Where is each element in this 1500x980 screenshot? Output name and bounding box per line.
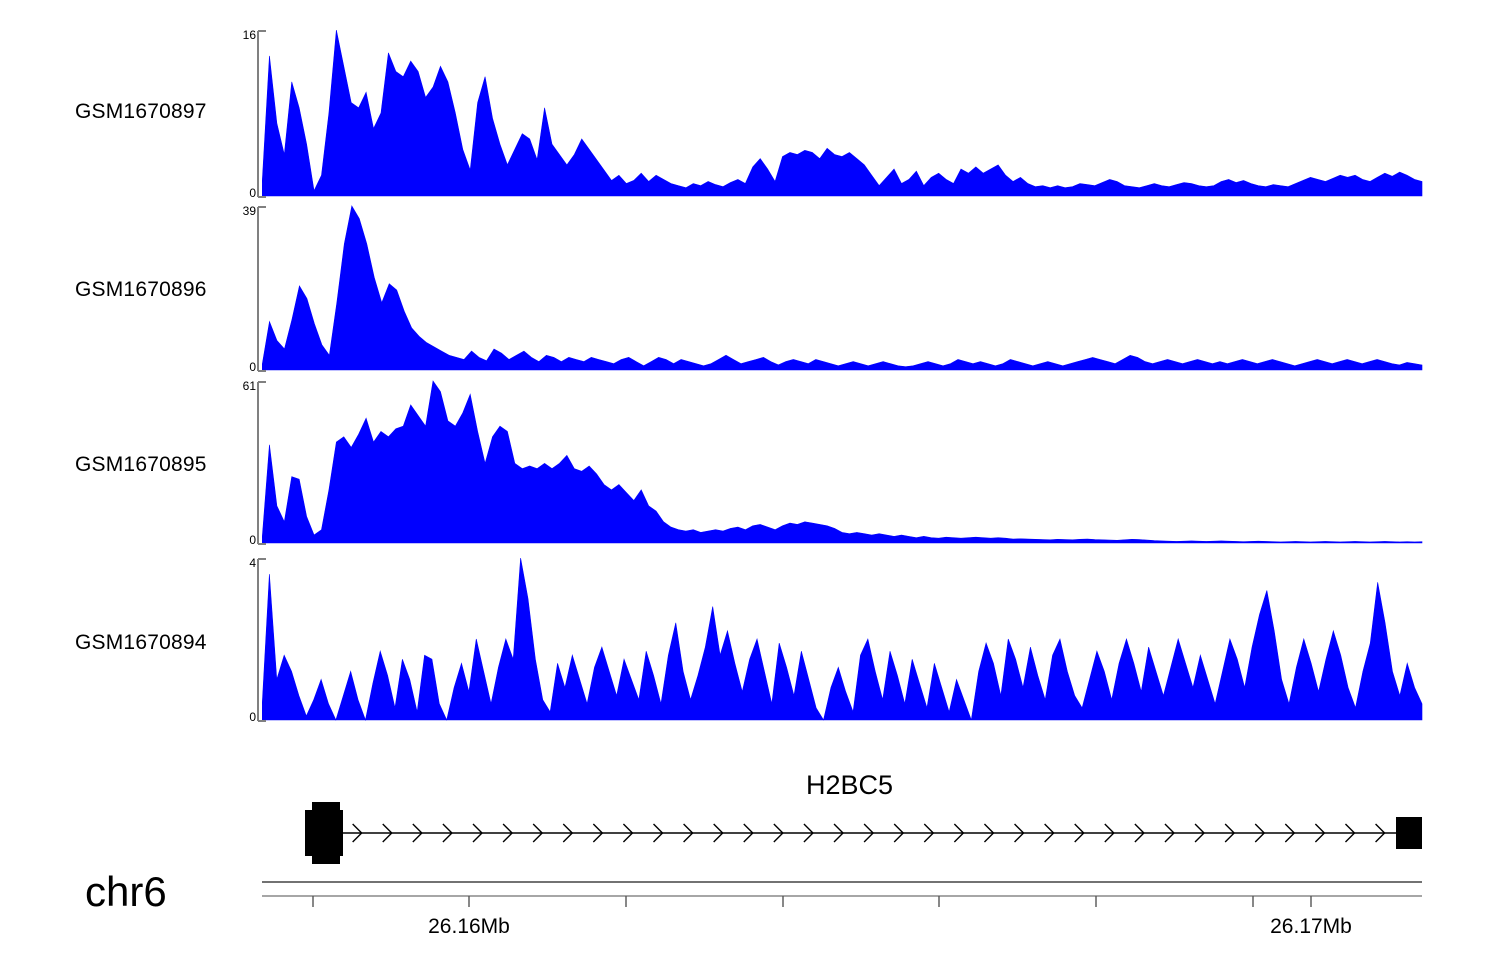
track-label-3: GSM1670894: [75, 631, 207, 655]
track-plot-0: [262, 0, 1427, 200]
coverage-track-1: GSM1670896 39 0: [0, 172, 1500, 372]
track-axis-max-0: 16: [216, 28, 256, 42]
axis-tick-label-1: 26.17Mb: [1270, 915, 1352, 939]
track-plot-2: [262, 345, 1427, 545]
track-plot-1: [262, 172, 1427, 372]
coverage-track-3: GSM1670894 4 0: [0, 518, 1500, 723]
track-yaxis-3: [255, 558, 267, 722]
track-axis-max-1: 39: [216, 204, 256, 218]
axis-tick-label-0: 26.16Mb: [428, 915, 510, 939]
track-axis-max-2: 61: [216, 379, 256, 393]
gene-model-track[interactable]: [0, 795, 1500, 875]
track-axis-max-3: 4: [216, 556, 256, 570]
coverage-track-2: GSM1670895 61 0: [0, 345, 1500, 545]
track-plot-3: [262, 518, 1427, 723]
track-label-1: GSM1670896: [75, 278, 207, 302]
track-label-0: GSM1670897: [75, 100, 207, 124]
genome-browser: GSM1670897 16 0 GSM1670896 39 0 GSM16708…: [0, 0, 1500, 980]
track-label-2: GSM1670895: [75, 453, 207, 477]
track-axis-min-3: 0: [216, 710, 256, 724]
coverage-track-0: GSM1670897 16 0: [0, 0, 1500, 200]
coordinate-axis[interactable]: [0, 875, 1500, 915]
